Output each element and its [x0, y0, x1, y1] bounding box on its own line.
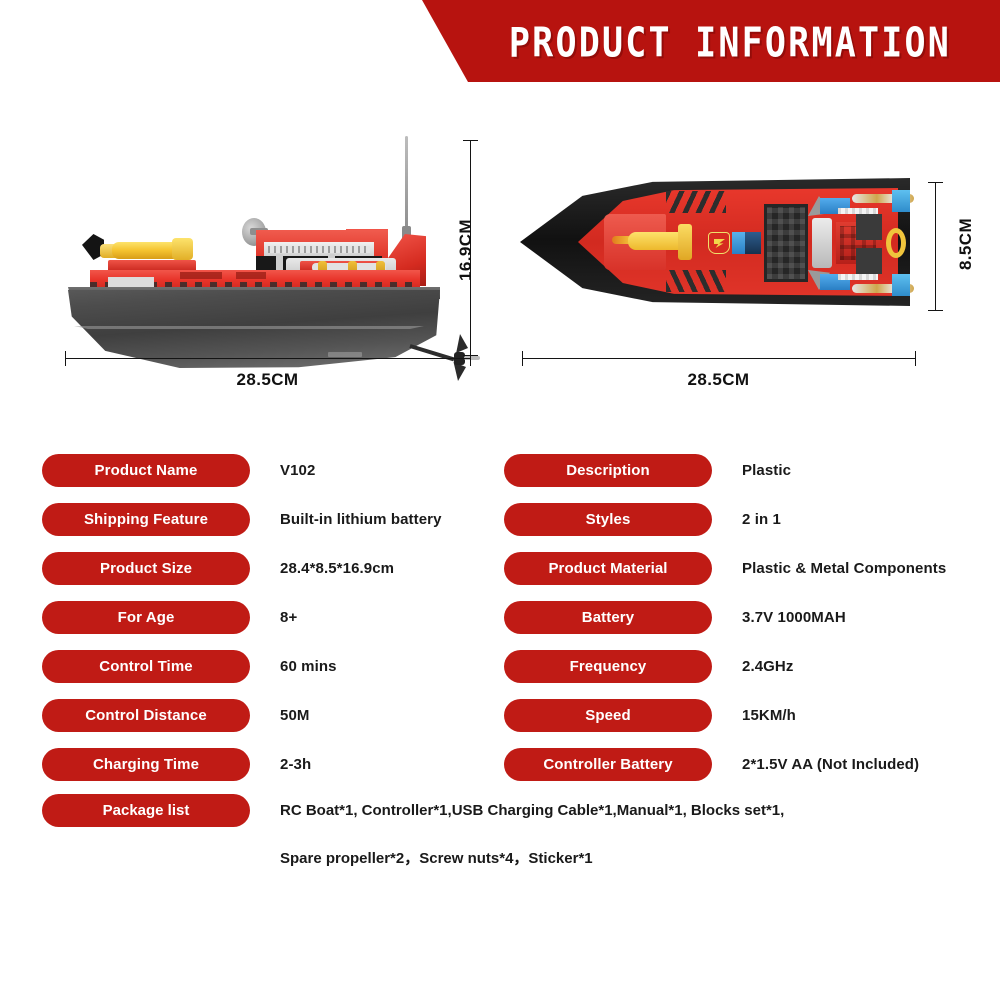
spec-value-package-list-line1: RC Boat*1, Controller*1,USB Charging Cab… [280, 794, 784, 827]
spec-label-battery: Battery [504, 601, 712, 634]
top-white-strip-lower [838, 274, 878, 280]
top-flame-emblem-icon [708, 232, 730, 254]
propeller-blade-upper [452, 334, 468, 353]
table-row: Product Name V102 [42, 454, 502, 487]
spec-value-styles: 2 in 1 [742, 503, 781, 536]
spec-label-control-distance: Control Distance [42, 699, 250, 732]
spec-label-frequency: Frequency [504, 650, 712, 683]
spec-value-control-time: 60 mins [280, 650, 337, 683]
top-grey-column [812, 218, 832, 268]
table-row: Charging Time 2-3h [42, 748, 502, 781]
table-row: Control Distance 50M [42, 699, 502, 732]
deck-slot-b [236, 272, 266, 279]
spec-value-frequency: 2.4GHz [742, 650, 793, 683]
table-row: Battery 3.7V 1000MAH [504, 601, 994, 634]
top-blue-brick [732, 232, 745, 254]
spec-label-styles: Styles [504, 503, 712, 536]
top-chevron-stripes-upper [666, 191, 726, 213]
top-stern-cyan-lower [892, 274, 910, 296]
spec-value-speed: 15KM/h [742, 699, 796, 732]
top-height-label: 8.5CM [956, 184, 976, 304]
spec-value-control-distance: 50M [280, 699, 309, 732]
top-chevron-stripes-lower [666, 270, 726, 292]
spec-value-package-list-line2: Spare propeller*2，Screw nuts*4，Sticker*1 [280, 842, 593, 875]
table-row: Speed 15KM/h [504, 699, 994, 732]
top-dark-stud-panel [764, 204, 808, 282]
spec-label-controller-battery: Controller Battery [504, 748, 712, 781]
hull-marking [328, 352, 362, 357]
top-width-cap-right [915, 351, 916, 366]
product-information-page: PRODUCT INFORMATION [0, 0, 1000, 1000]
product-figures: 16.9CM 28.5CM [0, 82, 1000, 422]
spec-label-shipping-feature: Shipping Feature [42, 503, 250, 536]
table-row: Shipping Feature Built-in lithium batter… [42, 503, 502, 536]
spec-label-product-material: Product Material [504, 552, 712, 585]
side-width-cap-left [65, 351, 66, 366]
boat-side-view-image [60, 130, 460, 380]
top-width-cap-left [522, 351, 523, 366]
antenna-mast [405, 136, 408, 232]
spec-value-controller-battery: 2*1.5V AA (Not Included) [742, 748, 919, 781]
top-height-cap-top [928, 182, 943, 183]
deck-white-brick [108, 277, 154, 287]
top-stern-yellow-ring [886, 228, 906, 258]
header-banner: PRODUCT INFORMATION [0, 0, 1000, 82]
spec-value-charging-time: 2-3h [280, 748, 311, 781]
table-row-package-list: Package list RC Boat*1, Controller*1,USB… [42, 794, 992, 884]
spec-label-package-list: Package list [42, 794, 250, 827]
top-width-dimension-line [522, 358, 915, 359]
spec-value-product-size: 28.4*8.5*16.9cm [280, 552, 394, 585]
spec-value-shipping-feature: Built-in lithium battery [280, 503, 442, 536]
top-grey-block-upper [856, 214, 882, 240]
spec-label-control-time: Control Time [42, 650, 250, 683]
top-grey-block-lower [856, 248, 882, 274]
side-width-dimension-line [65, 358, 470, 359]
side-width-label: 28.5CM [65, 370, 470, 390]
spec-value-battery: 3.7V 1000MAH [742, 601, 846, 634]
spec-value-description: Plastic [742, 454, 791, 487]
hull-chine-highlight [74, 326, 424, 329]
spec-value-for-age: 8+ [280, 601, 297, 634]
table-row: Product Size 28.4*8.5*16.9cm [42, 552, 502, 585]
table-row: Product Material Plastic & Metal Compone… [504, 552, 994, 585]
top-turret-mount [678, 224, 692, 260]
side-height-cap-top [463, 140, 478, 141]
top-stern-cyan-upper [892, 190, 910, 212]
cannon-breech [172, 238, 193, 260]
spec-value-product-name: V102 [280, 454, 315, 487]
hull-body [68, 290, 440, 368]
table-row: Description Plastic [504, 454, 994, 487]
top-dark-blue-brick [745, 232, 761, 254]
spec-label-for-age: For Age [42, 601, 250, 634]
page-title: PRODUCT INFORMATION [480, 18, 980, 69]
spec-label-product-size: Product Size [42, 552, 250, 585]
spec-value-product-material: Plastic & Metal Components [742, 552, 946, 585]
table-row: For Age 8+ [42, 601, 502, 634]
top-width-label: 28.5CM [522, 370, 915, 390]
boat-top-view-image [520, 174, 920, 319]
side-height-label: 16.9CM [456, 190, 476, 310]
side-width-cap-right [470, 351, 471, 366]
table-row: Controller Battery 2*1.5V AA (Not Includ… [504, 748, 994, 781]
table-row: Frequency 2.4GHz [504, 650, 994, 683]
spec-label-speed: Speed [504, 699, 712, 732]
spec-label-charging-time: Charging Time [42, 748, 250, 781]
spec-label-description: Description [504, 454, 712, 487]
deck-slot-a [180, 272, 222, 279]
table-row: Control Time 60 mins [42, 650, 502, 683]
table-row: Styles 2 in 1 [504, 503, 994, 536]
top-height-cap-bottom [928, 310, 943, 311]
cabin-vent-grille [268, 246, 370, 253]
spec-label-product-name: Product Name [42, 454, 250, 487]
top-height-dimension-line [935, 182, 936, 310]
